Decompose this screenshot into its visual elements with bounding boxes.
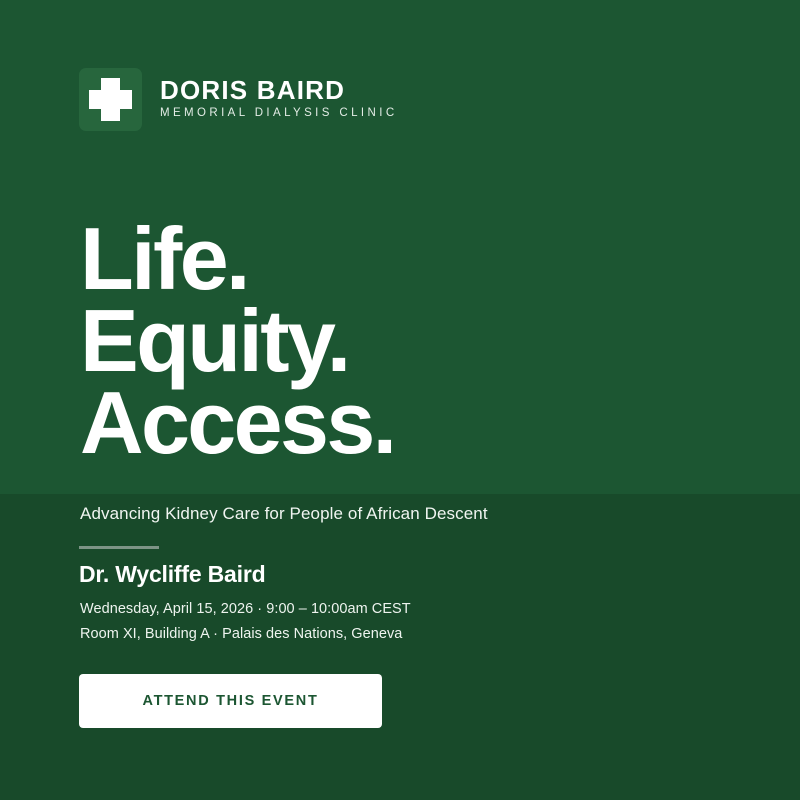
event-datetime: Wednesday, April 15, 2026 · 9:00 – 10:00… (80, 600, 411, 618)
speaker-name: Dr. Wycliffe Baird (79, 561, 265, 589)
headline-line-1: Life. (80, 218, 395, 300)
headline-line-2: Equity. (80, 300, 395, 382)
brand-name: DORIS BAIRD (160, 77, 398, 103)
event-details: Wednesday, April 15, 2026 · 9:00 – 10:00… (80, 600, 411, 643)
brand-tagline: MEMORIAL DIALYSIS CLINIC (160, 108, 398, 120)
brand-text: DORIS BAIRD MEMORIAL DIALYSIS CLINIC (160, 77, 398, 122)
brand-lockup: DORIS BAIRD MEMORIAL DIALYSIS CLINIC (79, 68, 398, 131)
headline-line-3: Access. (80, 382, 395, 464)
cross-horizontal-bar (89, 90, 132, 109)
poster-content: DORIS BAIRD MEMORIAL DIALYSIS CLINIC Lif… (0, 0, 800, 800)
event-location: Room XI, Building A · Palais des Nations… (80, 625, 411, 643)
event-poster: DORIS BAIRD MEMORIAL DIALYSIS CLINIC Lif… (0, 0, 800, 800)
subtitle: Advancing Kidney Care for People of Afri… (80, 504, 488, 524)
attend-event-button[interactable]: ATTEND THIS EVENT (79, 674, 382, 728)
divider-rule (79, 546, 159, 549)
page-title: Life. Equity. Access. (80, 218, 395, 463)
medical-cross-icon (79, 68, 142, 131)
